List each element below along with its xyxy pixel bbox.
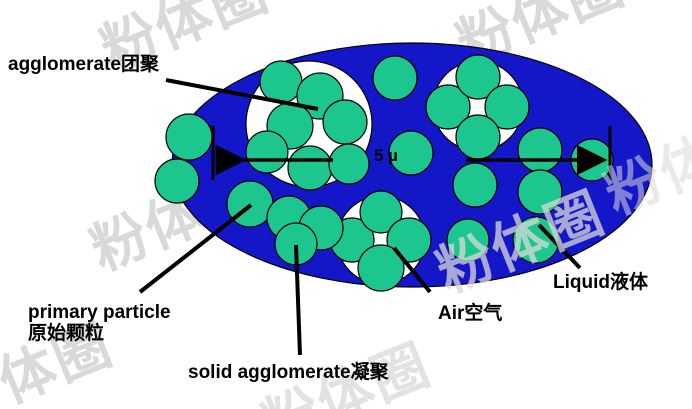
label-air-cn: 空气 <box>464 302 502 324</box>
particle <box>456 115 500 159</box>
label-scale: 5 µ <box>374 146 398 165</box>
particle <box>518 170 562 214</box>
particle <box>260 61 302 103</box>
particle <box>246 131 288 173</box>
particle <box>323 100 367 144</box>
label-agglomerate-en: agglomerate <box>8 54 121 75</box>
particle <box>329 144 369 184</box>
label-air: Air空气 <box>438 303 502 324</box>
label-agglomerate-cn: 团聚 <box>121 53 159 75</box>
label-liquid: Liquid液体 <box>553 272 648 293</box>
particle <box>288 146 332 190</box>
diagram-canvas: 粉体圈 粉体圈 粉体圈 粉体圈 <box>0 0 692 409</box>
label-solid-agglomerate-cn: 凝聚 <box>351 361 389 383</box>
label-air-en: Air <box>438 303 464 324</box>
label-agglomerate: agglomerate团聚 <box>8 54 159 75</box>
particle <box>373 56 417 100</box>
particle <box>453 163 497 207</box>
particle <box>155 159 199 203</box>
label-primary-particle: primary particle 原始颗粒 <box>28 302 171 345</box>
label-liquid-cn: 液体 <box>610 271 648 293</box>
label-primary-particle-en: primary particle <box>28 302 171 323</box>
label-solid-agglomerate: solid agglomerate凝聚 <box>188 362 389 383</box>
label-solid-agglomerate-en: solid agglomerate <box>188 362 351 383</box>
particle <box>447 219 489 261</box>
label-primary-particle-cn: 原始颗粒 <box>28 323 171 344</box>
label-liquid-en: Liquid <box>553 272 610 293</box>
particle <box>166 114 212 160</box>
particle <box>518 128 562 172</box>
